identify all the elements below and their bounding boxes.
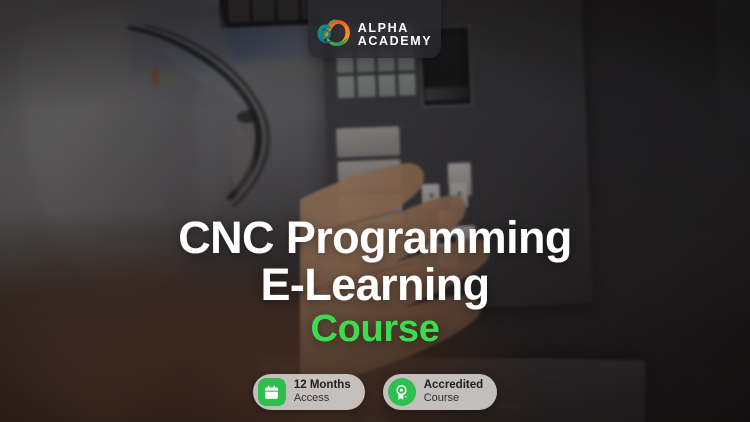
- brand-logo-text: ALPHA ACADEMY: [358, 22, 432, 48]
- award-ribbon-icon: [388, 378, 416, 406]
- badge-title: 12 Months: [294, 379, 351, 393]
- photo-dark-overlay: [0, 0, 750, 422]
- background-photo: ⇅ ⇅ ↑ ← → ↓ DOOR UNLOCK CHIP CONVEYOR PR…: [0, 0, 750, 422]
- alpha-infinity-ribbon-logo-icon: [317, 18, 351, 48]
- feature-badges: 12 Months Access Accredited Course: [0, 374, 750, 410]
- page-title: CNC Programming E-Learning Course: [0, 216, 750, 349]
- headline-line-2: E-Learning: [40, 263, 710, 308]
- badge-text: Accredited Course: [424, 379, 483, 406]
- brand-name-line2: ACADEMY: [358, 35, 432, 48]
- calendar-glyph: [263, 384, 280, 401]
- badge-text: 12 Months Access: [294, 379, 351, 406]
- badge-subtitle: Course: [424, 392, 483, 405]
- badge-12-months-access[interactable]: 12 Months Access: [253, 374, 365, 410]
- badge-accredited-course[interactable]: Accredited Course: [383, 374, 497, 410]
- calendar-icon: [258, 378, 286, 406]
- award-ribbon-glyph: [393, 384, 410, 401]
- course-promo-banner: ⇅ ⇅ ↑ ← → ↓ DOOR UNLOCK CHIP CONVEYOR PR…: [0, 0, 750, 422]
- headline-line-1: CNC Programming: [40, 216, 710, 261]
- badge-title: Accredited: [424, 379, 483, 393]
- brand-logo-container[interactable]: ALPHA ACADEMY: [308, 0, 441, 58]
- headline-line-3: Course: [40, 310, 710, 349]
- badge-subtitle: Access: [294, 392, 351, 405]
